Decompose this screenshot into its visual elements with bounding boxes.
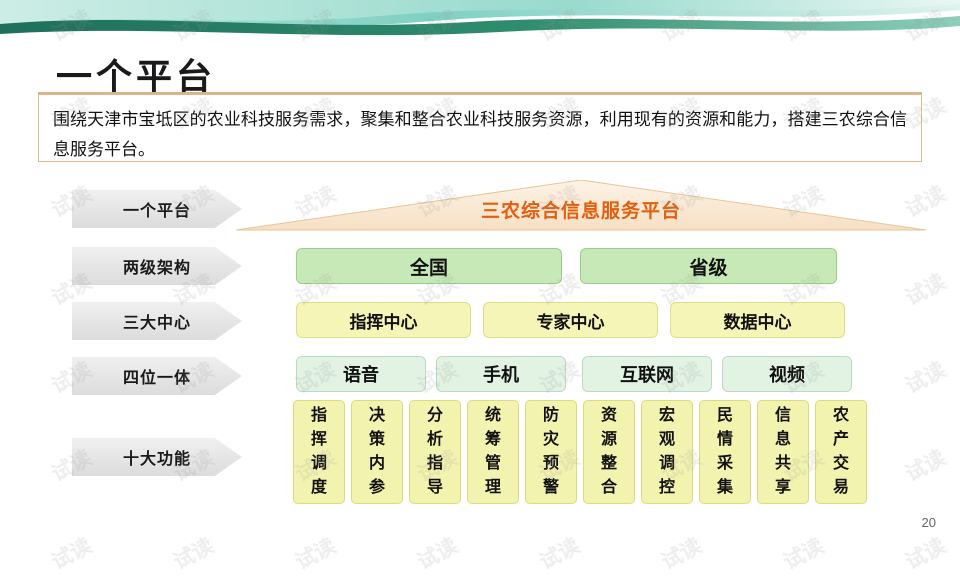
box-label: 指挥中心	[350, 308, 418, 333]
watermark-text: 试读	[411, 530, 462, 576]
func-label: 农产交易	[828, 404, 854, 500]
func-box-macro-control: 宏观调控	[641, 400, 693, 504]
box-internet: 互联网	[582, 356, 712, 392]
box-label: 手机	[483, 361, 519, 387]
func-box-disaster-warning: 防灾预警	[525, 400, 577, 504]
box-nationwide: 全国	[296, 248, 562, 284]
func-box-overall-management: 统筹管理	[467, 400, 519, 504]
tag-four-in-one: 四位一体	[72, 357, 242, 395]
box-voice: 语音	[296, 356, 426, 392]
box-label: 语音	[343, 361, 379, 387]
tag-label: 两级架构	[123, 254, 191, 278]
func-label: 分析指导	[422, 404, 448, 500]
func-box-resource-integration: 资源整合	[583, 400, 635, 504]
func-label: 决策内参	[364, 404, 390, 500]
box-label: 视频	[769, 361, 805, 387]
tag-label: 一个平台	[123, 197, 191, 221]
box-label: 省级	[689, 253, 727, 280]
tag-two-levels: 两级架构	[72, 247, 242, 285]
pyramid-label: 三农综合信息服务平台	[236, 196, 926, 223]
func-label: 指挥调度	[306, 404, 332, 500]
header-decoration-band	[0, 0, 960, 44]
func-label: 统筹管理	[480, 404, 506, 500]
watermark-text: 试读	[289, 530, 340, 576]
watermark-text: 试读	[45, 530, 96, 576]
watermark-text: 试读	[655, 530, 706, 576]
func-label: 资源整合	[596, 404, 622, 500]
func-box-information-sharing: 信息共享	[757, 400, 809, 504]
tag-label: 三大中心	[123, 309, 191, 333]
tag-three-centers: 三大中心	[72, 302, 242, 340]
page-number: 20	[922, 515, 936, 530]
func-box-command-dispatch: 指挥调度	[293, 400, 345, 504]
watermark-text: 试读	[533, 530, 584, 576]
watermark-text: 试读	[899, 530, 950, 576]
watermark-text: 试读	[167, 530, 218, 576]
func-box-analysis-guidance: 分析指导	[409, 400, 461, 504]
tag-label: 四位一体	[123, 364, 191, 388]
tag-label: 十大功能	[123, 445, 191, 469]
func-label: 民情采集	[712, 404, 738, 500]
func-label: 信息共享	[770, 404, 796, 500]
box-data-center: 数据中心	[670, 302, 845, 338]
description-box: 围绕天津市宝坻区的农业科技服务需求，聚集和整合农业科技服务资源，利用现有的资源和…	[38, 94, 922, 162]
func-box-decision-reference: 决策内参	[351, 400, 403, 504]
box-video: 视频	[722, 356, 852, 392]
box-command-center: 指挥中心	[296, 302, 471, 338]
func-box-agri-product-trade: 农产交易	[815, 400, 867, 504]
tag-ten-functions: 十大功能	[72, 438, 242, 476]
watermark-text: 试读	[899, 442, 950, 488]
watermark-text: 试读	[777, 530, 828, 576]
func-box-public-opinion-collection: 民情采集	[699, 400, 751, 504]
box-label: 数据中心	[724, 308, 792, 333]
tag-one-platform: 一个平台	[72, 190, 242, 228]
box-label: 互联网	[620, 361, 674, 387]
description-text: 围绕天津市宝坻区的农业科技服务需求，聚集和整合农业科技服务资源，利用现有的资源和…	[53, 105, 907, 165]
box-label: 全国	[410, 253, 448, 280]
watermark-text: 试读	[899, 266, 950, 312]
box-provincial: 省级	[580, 248, 837, 284]
box-mobile: 手机	[436, 356, 566, 392]
box-expert-center: 专家中心	[483, 302, 658, 338]
func-label: 宏观调控	[654, 404, 680, 500]
watermark-text: 试读	[899, 354, 950, 400]
box-label: 专家中心	[537, 308, 605, 333]
func-label: 防灾预警	[538, 404, 564, 500]
